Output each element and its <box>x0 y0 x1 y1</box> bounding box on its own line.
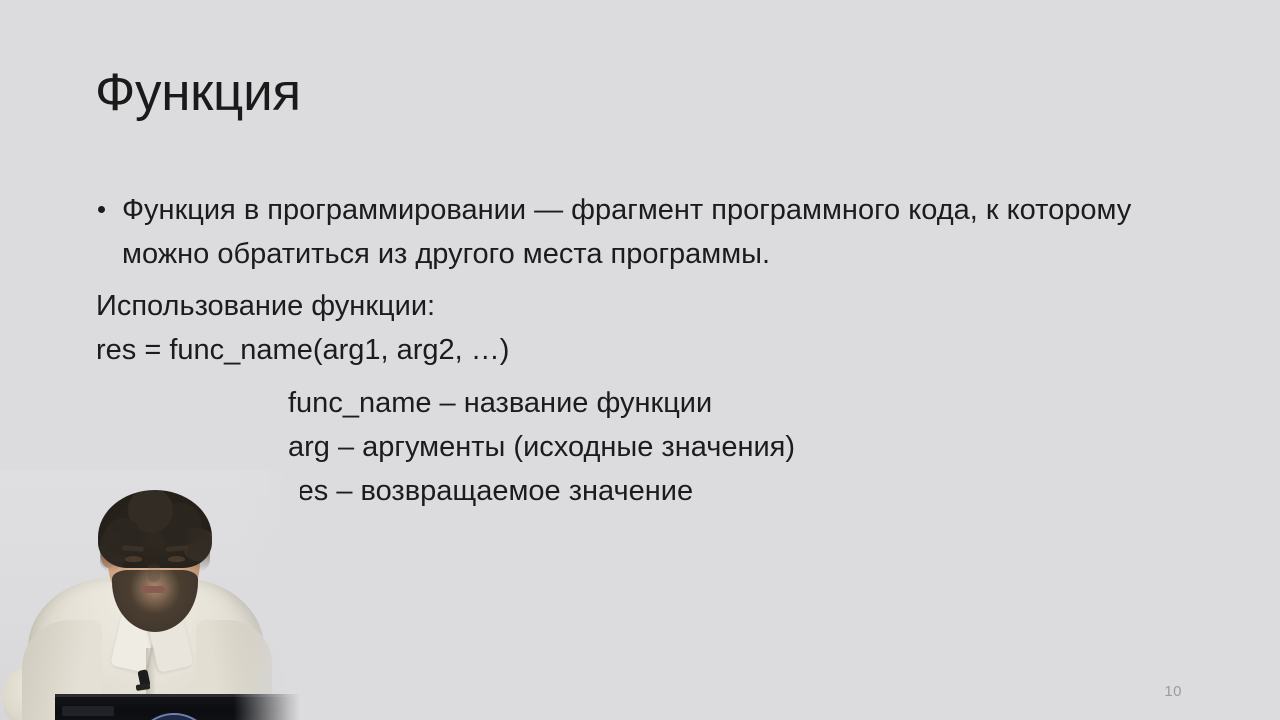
bullet-item-text: Функция в программировании — фрагмент пр… <box>122 188 1206 276</box>
lectern-top-edge <box>55 694 300 697</box>
presenter-hair-side-right <box>188 528 210 572</box>
presenter-figure <box>0 470 300 720</box>
page-title: Функция <box>95 62 301 124</box>
speaker-video-overlay: ITY OF COMMU <box>0 470 300 720</box>
usage-heading: Использование функции: <box>96 284 1206 328</box>
page-number: 10 <box>1164 683 1182 700</box>
presenter-hair-side-left <box>100 532 120 572</box>
presenter-mouth <box>141 586 165 593</box>
bullet-dot-icon <box>98 206 105 213</box>
slide-body: Функция в программировании — фрагмент пр… <box>96 188 1206 513</box>
definition-func-name: func_name – название функции <box>288 381 1206 425</box>
lectern-laptop <box>62 706 114 716</box>
presenter-eye-right <box>168 556 185 562</box>
presenter-eye-left <box>125 556 142 562</box>
spacer <box>96 372 1206 381</box>
definition-res: res – возвращаемое значение <box>288 469 1206 513</box>
bullet-list-item: Функция в программировании — фрагмент пр… <box>96 188 1206 276</box>
presentation-slide: Функция Функция в программировании — фра… <box>0 0 1280 720</box>
function-call-syntax: res = func_name(arg1, arg2, …) <box>96 328 1206 372</box>
definition-arg: arg – аргументы (исходные значения) <box>288 425 1206 469</box>
